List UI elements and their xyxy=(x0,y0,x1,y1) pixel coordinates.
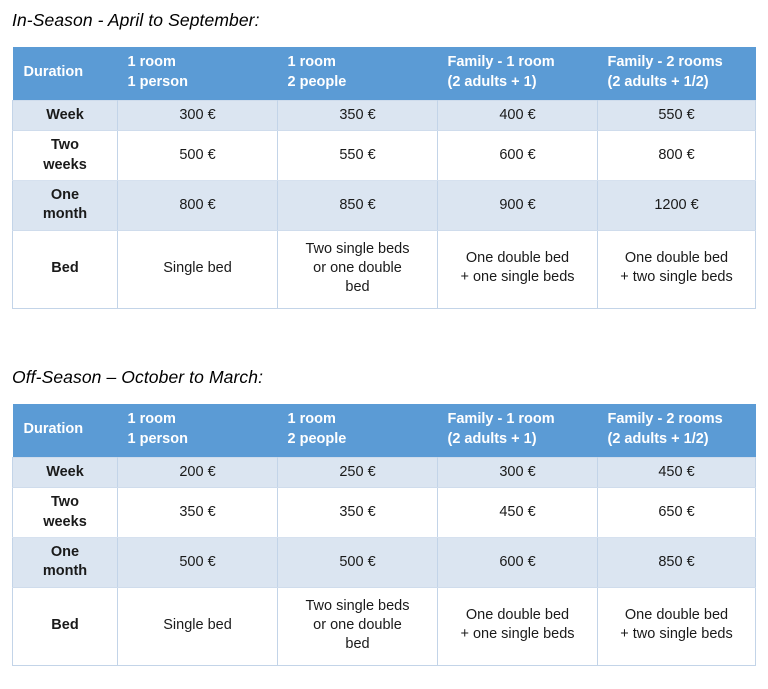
column-header-line: Duration xyxy=(24,420,108,440)
cell-line: + two single beds xyxy=(604,625,749,644)
table-row: Onemonth500 €500 €600 €850 € xyxy=(13,537,756,587)
column-header-one-room-one-person: 1 room1 person xyxy=(118,47,278,101)
column-header-family-two-rooms: Family - 2 rooms(2 adults + 1/2) xyxy=(598,404,756,458)
row-label-duration: Onemonth xyxy=(13,537,118,587)
cell-line: 450 € xyxy=(604,463,749,482)
cell-line: 800 € xyxy=(124,196,271,215)
cell-line: 800 € xyxy=(604,146,749,165)
cell-line: Single bed xyxy=(124,259,271,278)
cell-line: One double bed xyxy=(444,249,591,268)
cell-family-one-room: 600 € xyxy=(438,131,598,181)
column-header-line: Family - 1 room xyxy=(448,53,588,73)
cell-family-two-rooms: 800 € xyxy=(598,131,756,181)
cell-line: + two single beds xyxy=(604,268,749,287)
cell-line: bed xyxy=(284,278,431,297)
column-header-line: (2 adults + 1/2) xyxy=(608,73,746,93)
row-label-duration: Onemonth xyxy=(13,180,118,230)
section-title-in-season: In-Season - April to September: xyxy=(12,12,260,30)
cell-one-room-two-people: Two single bedsor one doublebed xyxy=(278,230,438,309)
cell-line: 300 € xyxy=(444,463,591,482)
cell-line: bed xyxy=(284,635,431,654)
column-header-line: Family - 2 rooms xyxy=(608,410,746,430)
price-table: Duration1 room1 person1 room2 peopleFami… xyxy=(12,404,756,666)
cell-line: or one double xyxy=(284,259,431,278)
row-label-duration: Twoweeks xyxy=(13,131,118,181)
cell-family-two-rooms: 450 € xyxy=(598,458,756,488)
cell-line: One double bed xyxy=(604,249,749,268)
row-label-line: month xyxy=(19,205,111,224)
column-header-line: 1 room xyxy=(288,53,428,73)
cell-family-two-rooms: 850 € xyxy=(598,537,756,587)
column-header-one-room-one-person: 1 room1 person xyxy=(118,404,278,458)
row-label-line: Week xyxy=(19,463,111,482)
cell-one-room-one-person: 800 € xyxy=(118,180,278,230)
cell-one-room-two-people: 500 € xyxy=(278,537,438,587)
cell-one-room-two-people: 250 € xyxy=(278,458,438,488)
cell-one-room-one-person: 300 € xyxy=(118,101,278,131)
cell-line: 350 € xyxy=(284,503,431,522)
column-header-line: Duration xyxy=(24,63,108,83)
cell-one-room-two-people: 850 € xyxy=(278,180,438,230)
cell-line: 550 € xyxy=(604,106,749,125)
cell-one-room-one-person: Single bed xyxy=(118,230,278,309)
row-label-duration: Bed xyxy=(13,587,118,666)
price-table: Duration1 room1 person1 room2 peopleFami… xyxy=(12,47,756,309)
column-header-line: Family - 2 rooms xyxy=(608,53,746,73)
column-header-line: 2 people xyxy=(288,430,428,450)
table-header: Duration1 room1 person1 room2 peopleFami… xyxy=(13,47,756,101)
cell-line: Two single beds xyxy=(284,597,431,616)
cell-line: 350 € xyxy=(124,503,271,522)
cell-line: 500 € xyxy=(124,146,271,165)
column-header-one-room-two-people: 1 room2 people xyxy=(278,47,438,101)
table-body: Week200 €250 €300 €450 €Twoweeks350 €350… xyxy=(13,458,756,666)
cell-family-one-room: 450 € xyxy=(438,488,598,538)
cell-one-room-one-person: Single bed xyxy=(118,587,278,666)
cell-line: 600 € xyxy=(444,146,591,165)
cell-family-one-room: One double bed+ one single beds xyxy=(438,230,598,309)
cell-line: 500 € xyxy=(284,553,431,572)
cell-line: One double bed xyxy=(604,606,749,625)
cell-one-room-one-person: 200 € xyxy=(118,458,278,488)
row-label-line: One xyxy=(19,186,111,205)
pricing-document: In-Season - April to September: Duration… xyxy=(0,0,768,689)
cell-line: 300 € xyxy=(124,106,271,125)
cell-line: 350 € xyxy=(284,106,431,125)
row-label-line: Bed xyxy=(19,259,111,278)
cell-line: 450 € xyxy=(444,503,591,522)
column-header-family-one-room: Family - 1 room(2 adults + 1) xyxy=(438,404,598,458)
cell-one-room-one-person: 500 € xyxy=(118,537,278,587)
section-title-off-season: Off-Season – October to March: xyxy=(12,369,263,387)
table-row: Onemonth800 €850 €900 €1200 € xyxy=(13,180,756,230)
column-header-family-two-rooms: Family - 2 rooms(2 adults + 1/2) xyxy=(598,47,756,101)
cell-family-two-rooms: One double bed+ two single beds xyxy=(598,587,756,666)
column-header-duration: Duration xyxy=(13,404,118,458)
column-header-line: (2 adults + 1) xyxy=(448,430,588,450)
cell-line: 600 € xyxy=(444,553,591,572)
column-header-line: (2 adults + 1) xyxy=(448,73,588,93)
table-row: BedSingle bedTwo single bedsor one doubl… xyxy=(13,230,756,309)
column-header-one-room-two-people: 1 room2 people xyxy=(278,404,438,458)
column-header-line: 1 room xyxy=(128,410,268,430)
row-label-duration: Bed xyxy=(13,230,118,309)
cell-family-one-room: 400 € xyxy=(438,101,598,131)
column-header-line: 1 room xyxy=(288,410,428,430)
cell-line: 200 € xyxy=(124,463,271,482)
cell-one-room-one-person: 350 € xyxy=(118,488,278,538)
row-label-line: weeks xyxy=(19,513,111,532)
row-label-line: Week xyxy=(19,106,111,125)
cell-family-two-rooms: 550 € xyxy=(598,101,756,131)
cell-line: 650 € xyxy=(604,503,749,522)
cell-line: 900 € xyxy=(444,196,591,215)
column-header-line: 1 room xyxy=(128,53,268,73)
cell-family-one-room: 300 € xyxy=(438,458,598,488)
column-header-line: 2 people xyxy=(288,73,428,93)
row-label-line: One xyxy=(19,543,111,562)
cell-one-room-two-people: 350 € xyxy=(278,488,438,538)
cell-family-two-rooms: 1200 € xyxy=(598,180,756,230)
column-header-line: (2 adults + 1/2) xyxy=(608,430,746,450)
row-label-line: weeks xyxy=(19,156,111,175)
table-row: Week300 €350 €400 €550 € xyxy=(13,101,756,131)
row-label-line: month xyxy=(19,562,111,581)
cell-line: 550 € xyxy=(284,146,431,165)
pricing-table-in-season: Duration1 room1 person1 room2 peopleFami… xyxy=(12,47,756,309)
pricing-table-off-season: Duration1 room1 person1 room2 peopleFami… xyxy=(12,404,756,666)
cell-line: + one single beds xyxy=(444,625,591,644)
cell-line: 1200 € xyxy=(604,196,749,215)
row-label-line: Two xyxy=(19,493,111,512)
cell-line: or one double xyxy=(284,616,431,635)
cell-one-room-two-people: Two single bedsor one doublebed xyxy=(278,587,438,666)
row-label-line: Two xyxy=(19,136,111,155)
cell-line: Single bed xyxy=(124,616,271,635)
table-row: BedSingle bedTwo single bedsor one doubl… xyxy=(13,587,756,666)
table-row: Twoweeks350 €350 €450 €650 € xyxy=(13,488,756,538)
table-body: Week300 €350 €400 €550 €Twoweeks500 €550… xyxy=(13,101,756,309)
cell-one-room-two-people: 350 € xyxy=(278,101,438,131)
cell-line: 500 € xyxy=(124,553,271,572)
column-header-family-one-room: Family - 1 room(2 adults + 1) xyxy=(438,47,598,101)
column-header-line: Family - 1 room xyxy=(448,410,588,430)
header-row: Duration1 room1 person1 room2 peopleFami… xyxy=(13,47,756,101)
table-header: Duration1 room1 person1 room2 peopleFami… xyxy=(13,404,756,458)
header-row: Duration1 room1 person1 room2 peopleFami… xyxy=(13,404,756,458)
cell-line: One double bed xyxy=(444,606,591,625)
cell-family-two-rooms: 650 € xyxy=(598,488,756,538)
row-label-duration: Week xyxy=(13,101,118,131)
cell-one-room-one-person: 500 € xyxy=(118,131,278,181)
row-label-line: Bed xyxy=(19,616,111,635)
cell-line: 400 € xyxy=(444,106,591,125)
cell-line: 250 € xyxy=(284,463,431,482)
cell-one-room-two-people: 550 € xyxy=(278,131,438,181)
cell-family-one-room: One double bed+ one single beds xyxy=(438,587,598,666)
column-header-duration: Duration xyxy=(13,47,118,101)
row-label-duration: Twoweeks xyxy=(13,488,118,538)
cell-family-one-room: 600 € xyxy=(438,537,598,587)
cell-line: 850 € xyxy=(604,553,749,572)
cell-family-one-room: 900 € xyxy=(438,180,598,230)
column-header-line: 1 person xyxy=(128,430,268,450)
column-header-line: 1 person xyxy=(128,73,268,93)
cell-family-two-rooms: One double bed+ two single beds xyxy=(598,230,756,309)
table-row: Twoweeks500 €550 €600 €800 € xyxy=(13,131,756,181)
cell-line: 850 € xyxy=(284,196,431,215)
cell-line: Two single beds xyxy=(284,240,431,259)
table-row: Week200 €250 €300 €450 € xyxy=(13,458,756,488)
row-label-duration: Week xyxy=(13,458,118,488)
cell-line: + one single beds xyxy=(444,268,591,287)
